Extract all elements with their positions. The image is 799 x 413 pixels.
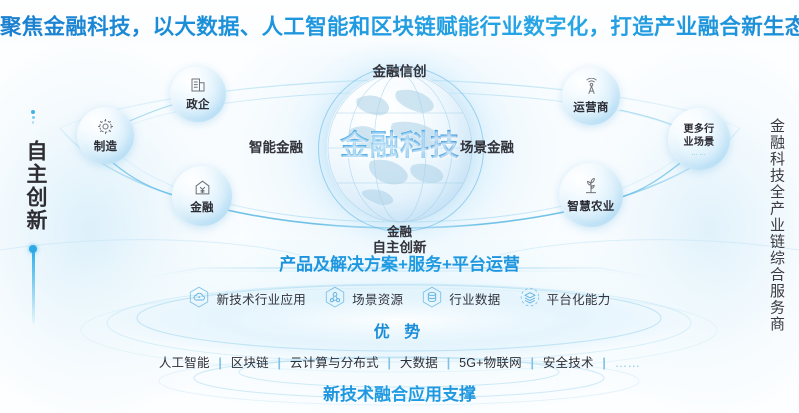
capability-label: 新技术行业应用: [216, 289, 306, 308]
tech-separator: |: [388, 356, 392, 370]
node-network-icon: [324, 286, 346, 310]
orbit-node-label: 制造: [94, 138, 118, 154]
tech-separator: |: [218, 356, 222, 370]
agriculture-icon: [581, 176, 601, 196]
orbit-node-zhizao[interactable]: 制造: [77, 107, 134, 164]
infographic-canvas: 聚焦金融科技，以大数据、人工智能和区块链赋能行业数字化，打造产业融合新生态 自主…: [0, 0, 799, 413]
middle-headline: 产品及解决方案+服务+平台运营: [0, 250, 799, 275]
tech-separator: |: [602, 356, 606, 370]
orbit-node-zhengqi[interactable]: 政企: [170, 66, 226, 122]
layers-icon: [519, 286, 541, 310]
bottom-headline: 新技术融合应用支撑: [0, 380, 799, 405]
capability-label: 行业数据: [449, 289, 500, 308]
bank-yen-icon: [193, 178, 212, 197]
tech-item: 人工智能: [159, 356, 210, 370]
globe-label-right: 场景金融: [460, 136, 514, 156]
orbit-node-zhihuinongye[interactable]: 智慧农业: [559, 163, 623, 227]
globe-label-top: 金融信创: [0, 60, 799, 80]
antenna-icon: [582, 78, 601, 97]
orbit-node-more-scenarios[interactable]: 更多行 业场景 ……: [668, 108, 730, 170]
cloud-hex-icon: [188, 286, 210, 310]
orbit-node-label: 智慧农业: [567, 198, 614, 214]
building-icon: [189, 76, 207, 94]
globe-label-left: 智能金融: [249, 136, 303, 156]
orbit-node-label: 运营商: [573, 99, 608, 115]
globe-core-label: 金融科技: [318, 122, 482, 164]
tech-separator: |: [530, 356, 534, 370]
tech-ellipsis: ……: [615, 356, 640, 370]
orbit-node-jinrong[interactable]: 金融: [172, 166, 232, 226]
tech-item: 安全技术: [543, 356, 594, 370]
capability-item[interactable]: 场景资源: [324, 286, 403, 310]
tech-item: 大数据: [400, 356, 438, 370]
orbit-node-label-line1: 更多行: [684, 124, 715, 136]
orbit-node-label-line2: 业场景: [684, 137, 715, 149]
capability-item[interactable]: 新技术行业应用: [188, 286, 306, 310]
tech-separator: |: [278, 356, 282, 370]
tech-item: 云计算与分布式: [290, 356, 379, 370]
more-scenarios-icon: ……: [691, 150, 707, 157]
capability-item[interactable]: 行业数据: [421, 286, 500, 310]
orbit-node-label: 金融: [190, 199, 214, 215]
advantage-label: 优 势: [0, 318, 799, 342]
technology-list: 人工智能 | 区块链 | 云计算与分布式 | 大数据 | 5G+物联网 | 安全…: [0, 352, 799, 371]
orbit-node-label: 政企: [186, 96, 210, 112]
tech-separator: |: [447, 356, 451, 370]
tech-item: 区块链: [231, 356, 269, 370]
capability-label: 平台化能力: [547, 289, 611, 308]
tech-item: 5G+物联网: [459, 356, 522, 370]
orbit-node-yunyingshang[interactable]: 运营商: [562, 67, 620, 125]
capability-label: 场景资源: [352, 289, 403, 308]
gear-icon: [96, 117, 115, 136]
capabilities-row: 新技术行业应用 场景资源 行业数据: [0, 286, 799, 310]
capability-item[interactable]: 平台化能力: [519, 286, 611, 310]
database-icon: [421, 286, 443, 310]
